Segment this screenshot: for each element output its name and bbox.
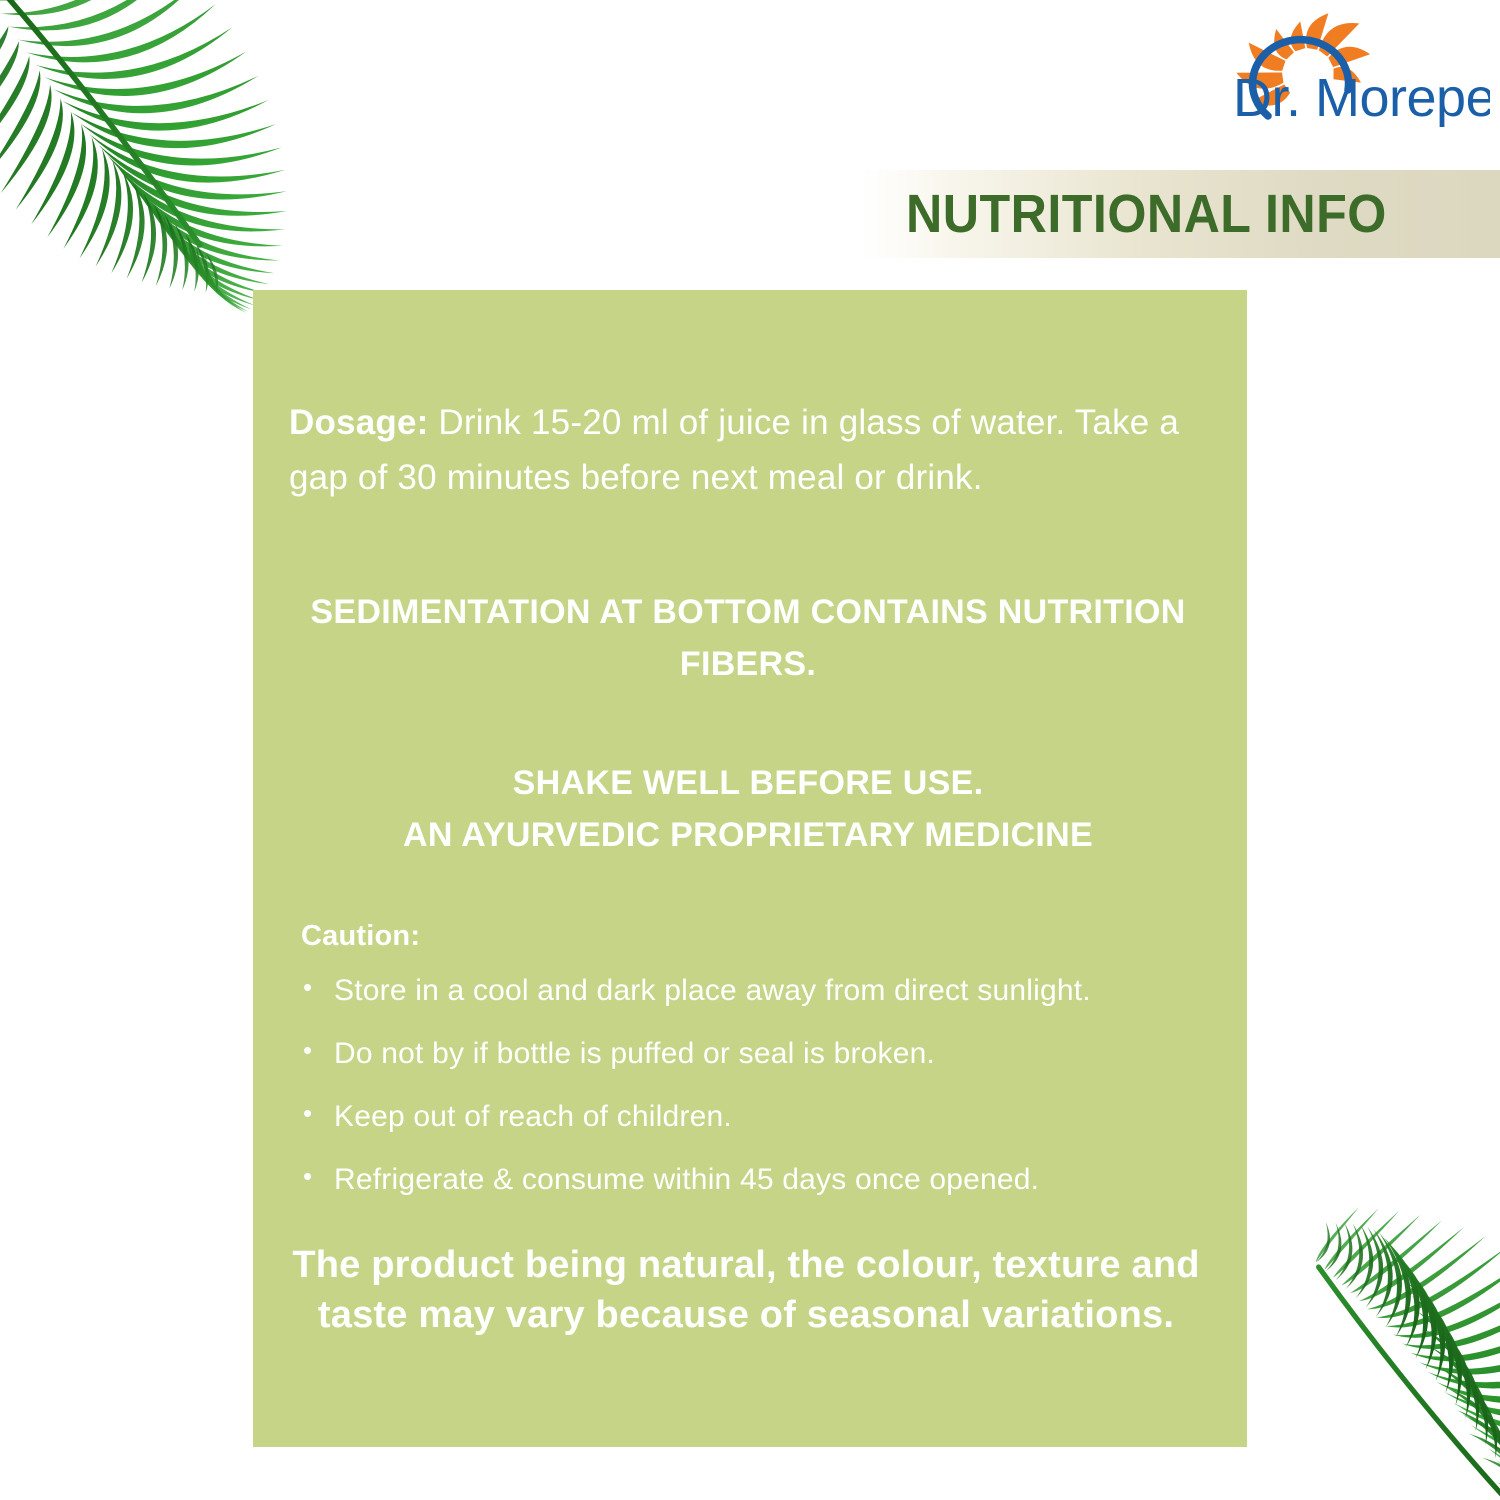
dosage-paragraph: Dosage: Drink 15-20 ml of juice in glass… [289,395,1209,506]
brand-name-text: Dr. Morepen [1233,68,1490,128]
list-item: Keep out of reach of children. [301,1100,1201,1133]
statement-sedimentation: SEDIMENTATION AT BOTTOM CONTAINS NUTRITI… [283,587,1213,690]
dosage-label: Dosage: [289,403,429,442]
list-item: Do not by if bottle is puffed or seal is… [301,1037,1201,1070]
seasonal-variation-note: The product being natural, the colour, t… [281,1240,1211,1340]
nutrition-info-panel: Dosage: Drink 15-20 ml of juice in glass… [253,290,1247,1447]
page-title: NUTRITIONAL INFO [906,183,1387,245]
list-item: Store in a cool and dark place away from… [301,974,1201,1007]
caution-list: Store in a cool and dark place away from… [301,974,1201,1226]
statement-shake-well: SHAKE WELL BEFORE USE.AN AYURVEDIC PROPR… [283,758,1213,861]
brand-logo: Dr. Morepen [1140,12,1490,134]
nutritional-info-poster: Dr. Morepen NUTRITIONAL INFO Dosage: Dri… [0,0,1500,1500]
caution-heading: Caution: [301,920,420,953]
list-item: Refrigerate & consume within 45 days onc… [301,1163,1201,1196]
section-title-band: NUTRITIONAL INFO [862,170,1500,258]
